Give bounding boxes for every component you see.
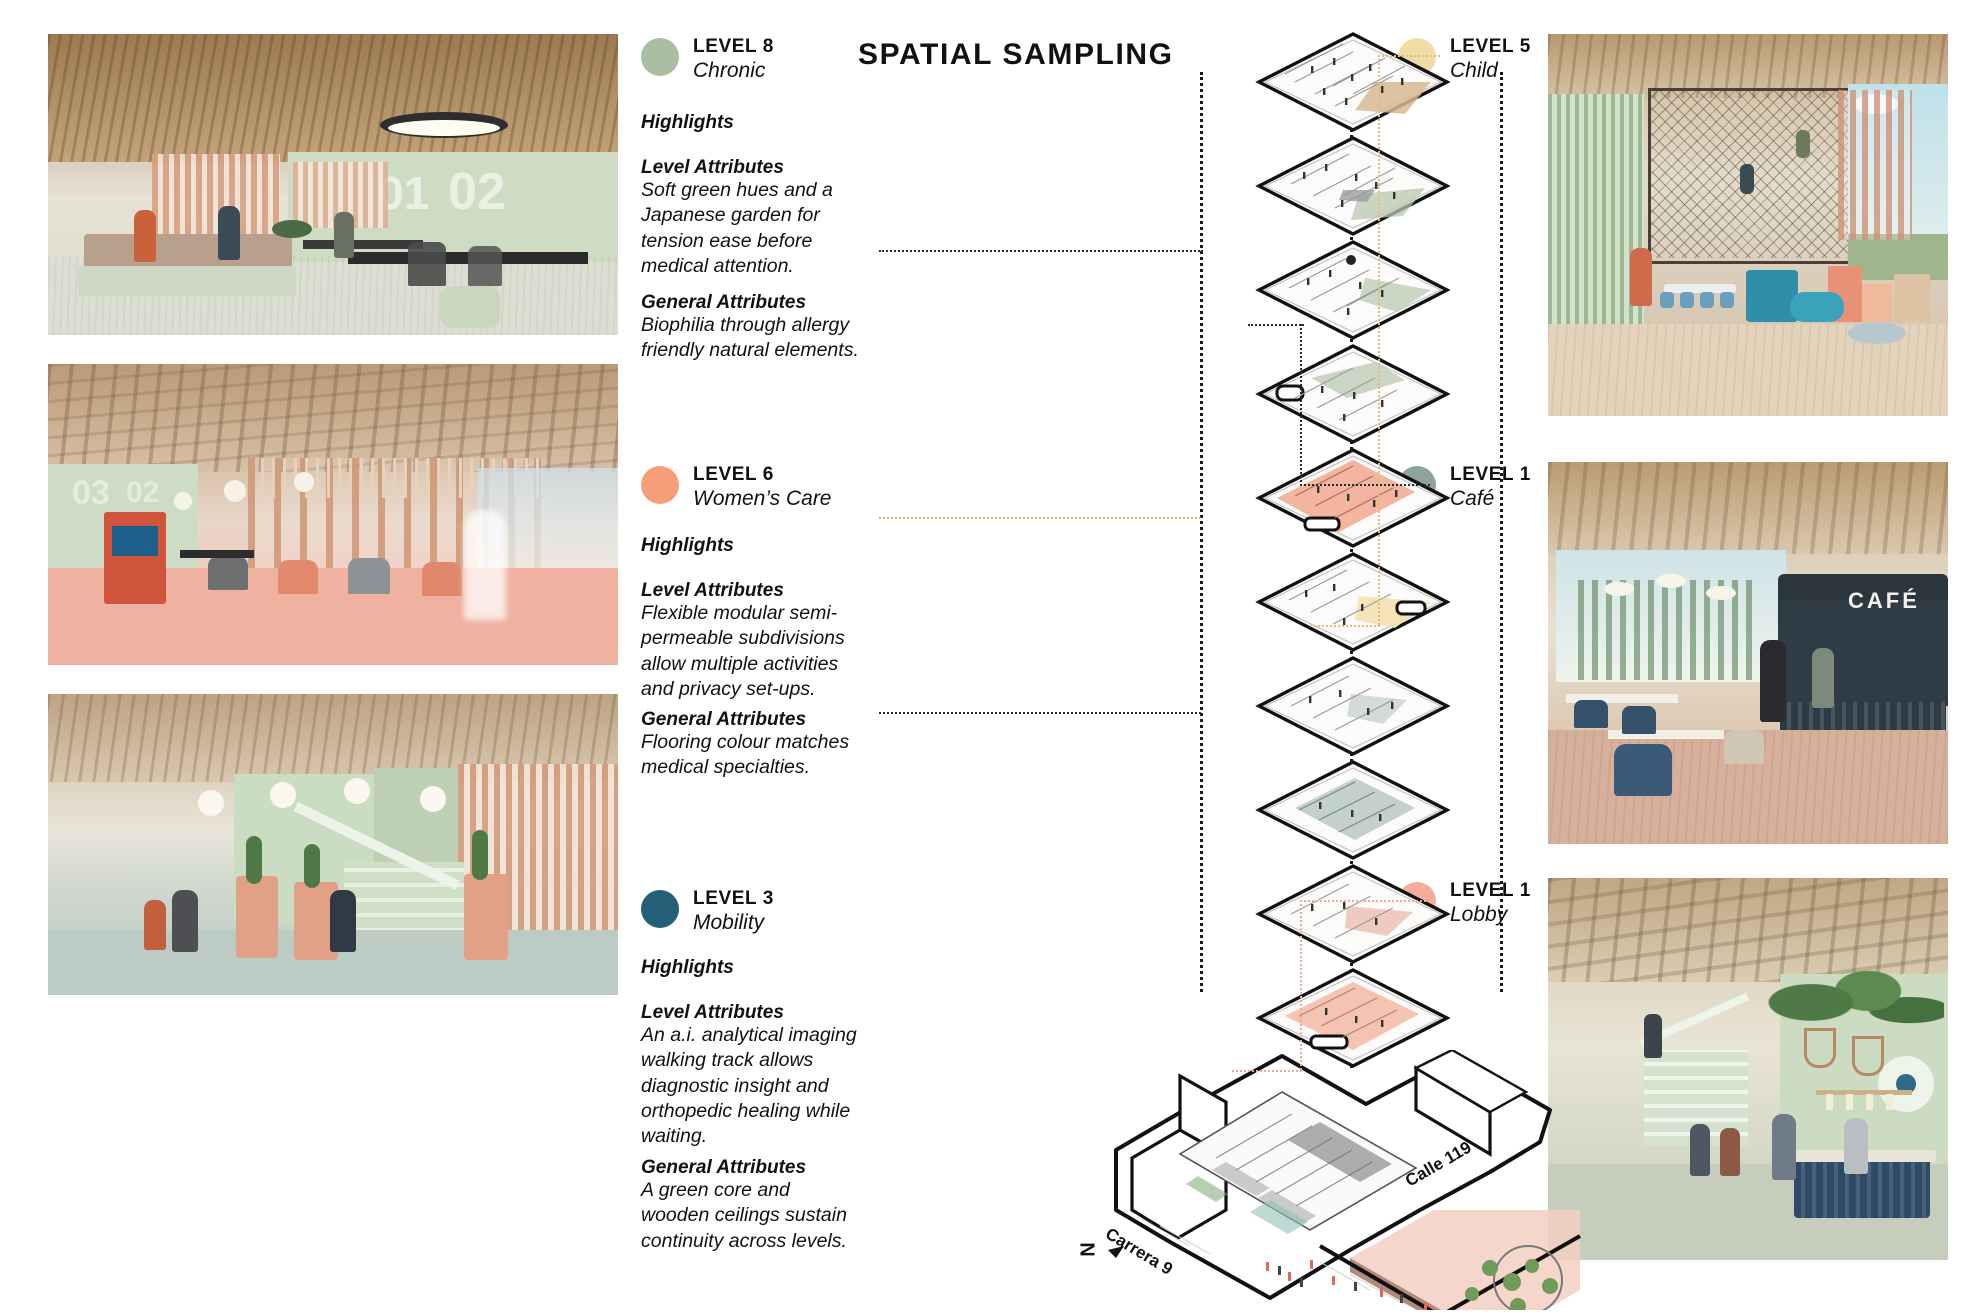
connector-cafe-horizontal-bottom bbox=[1248, 324, 1304, 326]
highlights-heading-level-8: Highlights bbox=[641, 112, 734, 134]
connector-level-6 bbox=[879, 517, 1201, 519]
level-color-dot-level-6 bbox=[641, 466, 679, 504]
connector-level-3 bbox=[879, 712, 1201, 714]
level-attributes-text-level-8: Soft green hues and a Japanese garden fo… bbox=[641, 178, 859, 279]
level-name: Women’s Care bbox=[693, 486, 832, 511]
connector-level-8 bbox=[879, 250, 1203, 252]
floor-plate-10 bbox=[1255, 30, 1451, 140]
level-marker-level-6: LEVEL 6 Women’s Care bbox=[641, 464, 832, 511]
level-attributes-heading-level-6: Level Attributes bbox=[641, 580, 784, 602]
floor-plate-8 bbox=[1255, 238, 1451, 348]
floor-plate-3-mobility bbox=[1255, 758, 1451, 868]
level-color-dot-level-3 bbox=[641, 890, 679, 928]
connector-level-5-vertical bbox=[1378, 55, 1380, 625]
guide-rail-left bbox=[1200, 72, 1203, 992]
level-attributes-heading-level-3: Level Attributes bbox=[641, 1002, 784, 1024]
rendering-womens-care-floor: 03 02 bbox=[48, 364, 618, 665]
connector-level-5-horizontal-bottom bbox=[1310, 625, 1380, 627]
floor-plate-4 bbox=[1255, 654, 1451, 764]
connector-lobby-horizontal-bottom bbox=[1232, 1070, 1302, 1072]
rendering-mobility-level bbox=[48, 694, 618, 995]
level-name: Mobility bbox=[693, 910, 774, 935]
rendering-chronic-care-lounge: 01 02 bbox=[48, 34, 618, 335]
connector-cafe-horizontal-top bbox=[1300, 484, 1430, 486]
floor-plate-2 bbox=[1255, 862, 1451, 972]
highlights-heading-level-3: Highlights bbox=[641, 957, 734, 979]
general-attributes-heading-level-8: General Attributes bbox=[641, 292, 806, 314]
floor-plate-6-womens-care bbox=[1255, 446, 1451, 556]
highlights-heading-level-6: Highlights bbox=[641, 535, 734, 557]
level-name: Chronic bbox=[693, 58, 774, 83]
level-attributes-text-level-3: An a.i. analytical imaging walking track… bbox=[641, 1023, 859, 1150]
level-attributes-text-level-6: Flexible modular semi-permeable subdivis… bbox=[641, 601, 859, 702]
exploded-axonometric-diagram: Carrera 9 Calle 119 N bbox=[1100, 10, 1620, 1300]
floor-plate-9 bbox=[1255, 134, 1451, 244]
level-marker-level-3: LEVEL 3 Mobility bbox=[641, 888, 774, 935]
general-attributes-text-level-3: A green core and wooden ceilings sustain… bbox=[641, 1178, 859, 1254]
site-plan-base: Carrera 9 Calle 119 N bbox=[1020, 1050, 1620, 1310]
level-marker-level-8: LEVEL 8 Chronic bbox=[641, 36, 774, 83]
north-arrow-label: N bbox=[1078, 1242, 1101, 1256]
level-number: LEVEL 6 bbox=[693, 464, 832, 486]
general-attributes-text-level-6: Flooring colour matches medical specialt… bbox=[641, 730, 859, 781]
connector-level-5-horizontal-top bbox=[1378, 55, 1440, 57]
floor-plate-5-child bbox=[1255, 550, 1451, 660]
level-number: LEVEL 8 bbox=[693, 36, 774, 58]
floor-plate-7 bbox=[1255, 342, 1451, 452]
general-attributes-heading-level-6: General Attributes bbox=[641, 709, 806, 731]
level-color-dot-level-8 bbox=[641, 38, 679, 76]
level-number: LEVEL 3 bbox=[693, 888, 774, 910]
connector-lobby-vertical bbox=[1300, 900, 1302, 1070]
connector-cafe-vertical bbox=[1300, 324, 1302, 486]
guide-rail-right bbox=[1500, 72, 1503, 992]
general-attributes-text-level-8: Biophilia through allergy friendly natur… bbox=[641, 313, 859, 364]
general-attributes-heading-level-3: General Attributes bbox=[641, 1157, 806, 1179]
level-attributes-heading-level-8: Level Attributes bbox=[641, 157, 784, 179]
connector-lobby-horizontal-top bbox=[1300, 900, 1430, 902]
